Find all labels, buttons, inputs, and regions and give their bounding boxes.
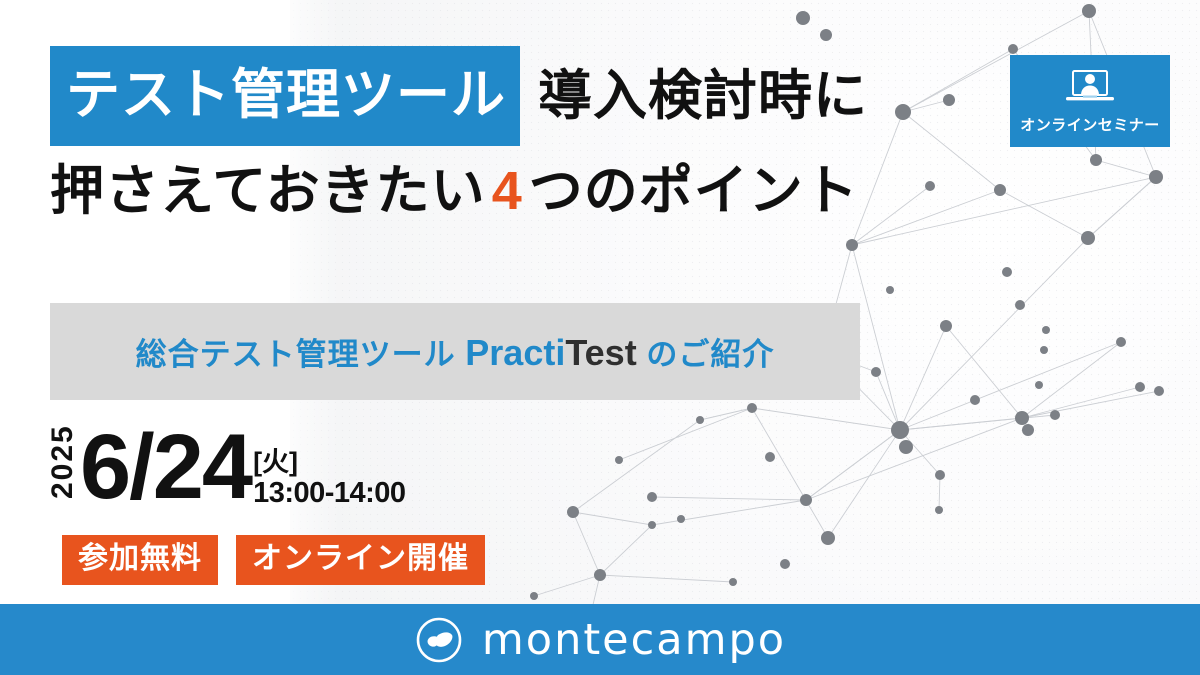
subtitle-band: 総合テスト管理ツール PractiTest のご紹介 bbox=[50, 303, 860, 400]
footer-bar: montecampo bbox=[0, 604, 1200, 675]
event-day-of-week: [火] bbox=[253, 449, 406, 476]
headline-line-1-rest: 導入検討時に bbox=[538, 69, 868, 123]
montecampo-circle-leaf-icon bbox=[414, 615, 464, 665]
event-badges: 参加無料 オンライン開催 bbox=[62, 535, 485, 585]
event-time: 13:00-14:00 bbox=[253, 479, 406, 508]
subtitle-prefix: 総合テスト管理ツール bbox=[136, 337, 456, 372]
seminar-banner: テスト管理ツール 導入検討時に 押さえておきたい4つのポイント 総合テスト管理ツ… bbox=[0, 0, 1200, 675]
headline: テスト管理ツール 導入検討時に 押さえておきたい4つのポイント bbox=[50, 48, 868, 222]
laptop-person-icon bbox=[1062, 68, 1118, 110]
headline-number: 4 bbox=[486, 161, 529, 221]
product-name-part2: Test bbox=[565, 332, 636, 373]
event-month-day: 6/24 bbox=[80, 425, 251, 510]
headline-line-2-before: 押さえておきたい bbox=[50, 161, 486, 221]
online-seminar-chip-label: オンラインセミナー bbox=[1020, 114, 1160, 135]
subtitle-text: 総合テスト管理ツール PractiTest のご紹介 bbox=[136, 329, 775, 374]
headline-highlight-box: テスト管理ツール bbox=[50, 46, 520, 146]
product-name-part1: Practi bbox=[465, 332, 565, 373]
headline-line-2: 押さえておきたい4つのポイント bbox=[50, 160, 868, 222]
event-date-details: [火] 13:00-14:00 bbox=[253, 449, 406, 508]
event-date: 2025 6/24 [火] 13:00-14:00 bbox=[48, 418, 406, 510]
badge-free-entry: 参加無料 bbox=[62, 535, 218, 585]
footer-brand-name: montecampo bbox=[482, 615, 786, 665]
subtitle-suffix: のご紹介 bbox=[646, 337, 774, 372]
online-seminar-chip: オンラインセミナー bbox=[1010, 55, 1170, 147]
headline-line-1: テスト管理ツール 導入検討時に bbox=[50, 48, 868, 144]
badge-online-event: オンライン開催 bbox=[236, 535, 485, 585]
event-year: 2025 bbox=[48, 418, 78, 506]
headline-line-2-after: つのポイント bbox=[529, 161, 859, 221]
